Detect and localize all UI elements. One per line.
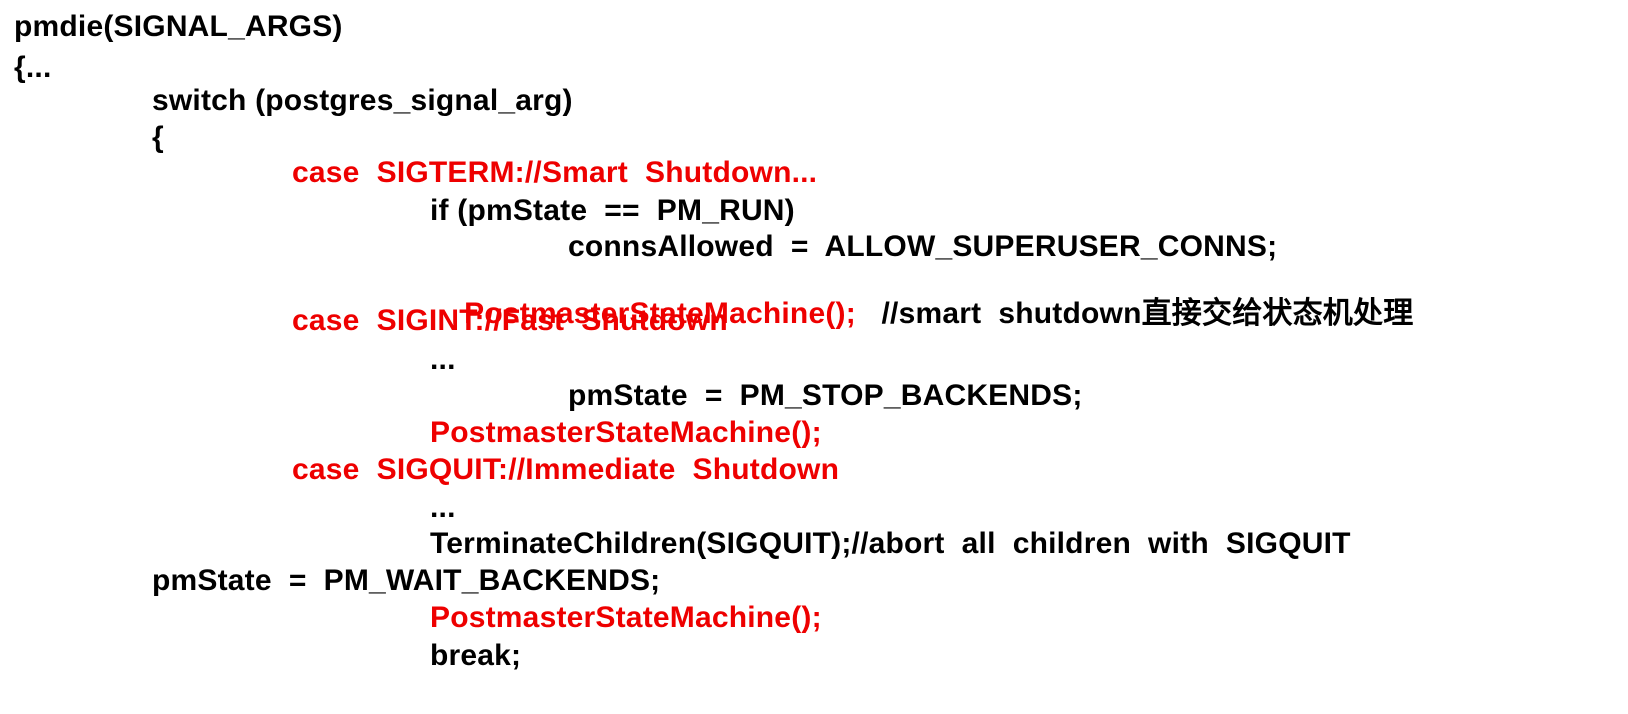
code-line-connsallowed-assign: connsAllowed = ALLOW_SUPERUSER_CONNS; bbox=[568, 232, 1277, 262]
code-line-case-sigterm: case SIGTERM://Smart Shutdown... bbox=[292, 158, 817, 188]
code-listing: pmdie(SIGNAL_ARGS) {... switch (postgres… bbox=[0, 0, 1628, 714]
code-line-postmasterstatemachine-immediate: PostmasterStateMachine(); bbox=[430, 603, 822, 633]
code-line-function-signature: pmdie(SIGNAL_ARGS) bbox=[14, 12, 343, 42]
code-line-switch-statement: switch (postgres_signal_arg) bbox=[152, 86, 573, 116]
code-line-terminatechildren: TerminateChildren(SIGQUIT);//abort all c… bbox=[430, 529, 1351, 559]
code-line-break: break; bbox=[430, 641, 521, 671]
code-line-ellipsis-sigquit: ... bbox=[430, 493, 456, 523]
code-line-pmstate-wait-backends: pmState = PM_WAIT_BACKENDS; bbox=[152, 566, 660, 596]
code-line-open-brace-ellipsis: {... bbox=[14, 53, 51, 83]
code-comment-smart-shutdown: //smart shutdown bbox=[856, 297, 1142, 330]
code-line-case-sigint: case SIGINT://Fast Shutdown bbox=[292, 306, 728, 336]
code-comment-smart-shutdown-chinese: 直接交给状态机处理 bbox=[1142, 297, 1414, 330]
code-line-switch-open-brace: { bbox=[152, 123, 164, 153]
code-line-postmasterstatemachine-fast: PostmasterStateMachine(); bbox=[430, 418, 822, 448]
code-line-case-sigquit: case SIGQUIT://Immediate Shutdown bbox=[292, 455, 839, 485]
code-line-pmstate-stop-backends: pmState = PM_STOP_BACKENDS; bbox=[568, 381, 1083, 411]
code-line-ellipsis-sigint: ... bbox=[430, 345, 456, 375]
code-line-if-pmstate-pmrun: if (pmState == PM_RUN) bbox=[430, 196, 795, 226]
